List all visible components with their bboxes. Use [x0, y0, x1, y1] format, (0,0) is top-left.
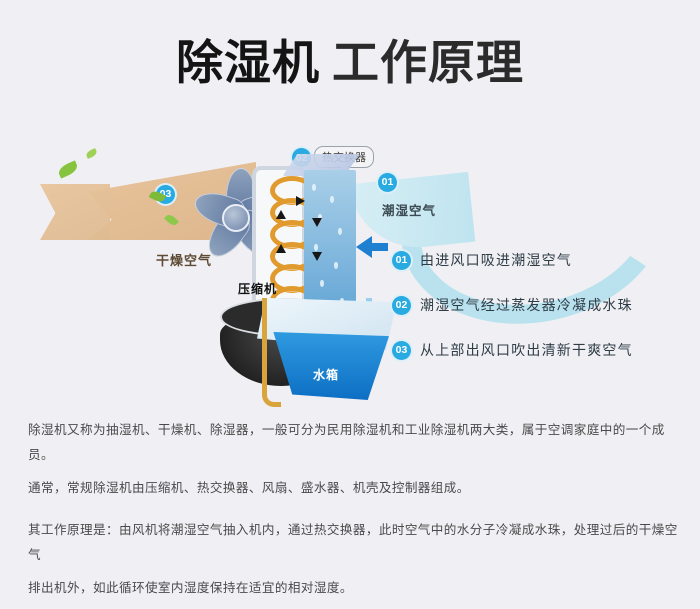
- flow-arrow-icon: [312, 218, 322, 227]
- machine-base: 水箱: [195, 288, 415, 400]
- legend-list: 01 由进风口吸进潮湿空气 02 潮湿空气经过蒸发器冷凝成水珠 03 从上部出风…: [392, 250, 692, 385]
- water-droplet-icon: [312, 184, 316, 191]
- paragraph-2-line-2: 排出机外，如此循环使室内湿度保持在适宜的相对湿度。: [28, 576, 678, 601]
- legend-label: 由进风口吸进潮湿空气: [420, 250, 572, 270]
- water-droplet-icon: [330, 196, 334, 203]
- legend-item: 03 从上部出风口吹出清新干爽空气: [392, 340, 692, 360]
- water-tank-label: 水箱: [313, 366, 339, 383]
- infographic-page: 除湿机工作原理 01 潮湿空气 干燥空气 03: [0, 0, 700, 566]
- water-droplet-icon: [338, 228, 342, 235]
- legend-badge: 01: [392, 251, 411, 270]
- body-copy: 除湿机又称为抽湿机、干燥机、除湿器，一般可分为民用除湿机和工业除湿机两大类，属于…: [28, 418, 678, 609]
- legend-label: 从上部出风口吹出清新干爽空气: [420, 340, 633, 360]
- legend-badge: 02: [392, 296, 411, 315]
- airflow-in-arrow-tail: [370, 243, 388, 251]
- fan-hub: [222, 204, 250, 232]
- title-part-2: 工作原理: [332, 36, 524, 89]
- water-droplet-icon: [320, 280, 324, 287]
- water-droplet-icon: [314, 244, 318, 251]
- paragraph-2-line-1: 其工作原理是：由风机将潮湿空气抽入机内，通过热交换器，此时空气中的水分子冷凝成水…: [28, 518, 678, 568]
- flow-arrow-icon: [276, 210, 286, 219]
- page-title: 除湿机工作原理: [0, 34, 700, 92]
- flow-arrow-icon: [312, 252, 322, 261]
- paragraph-1-line-2: 通常，常规除湿机由压缩机、热交换器、风扇、盛水器、机壳及控制器组成。: [28, 476, 678, 501]
- legend-badge: 03: [392, 341, 411, 360]
- legend-label: 潮湿空气经过蒸发器冷凝成水珠: [420, 295, 633, 315]
- refrigerant-pipe: [262, 298, 281, 407]
- title-part-1: 除湿机: [176, 36, 320, 89]
- flow-arrow-icon: [296, 196, 305, 206]
- flow-arrow-icon: [276, 244, 286, 253]
- compressor-label: 压缩机: [238, 280, 277, 297]
- dry-air-arrow-tail: [40, 184, 110, 240]
- paragraph-1-line-1: 除湿机又称为抽湿机、干燥机、除湿器，一般可分为民用除湿机和工业除湿机两大类，属于…: [28, 418, 678, 468]
- water-droplet-icon: [334, 262, 338, 269]
- humid-air-label: 潮湿空气: [382, 200, 436, 219]
- legend-item: 01 由进风口吸进潮湿空气: [392, 250, 692, 270]
- legend-item: 02 潮湿空气经过蒸发器冷凝成水珠: [392, 295, 692, 315]
- leaf-icon: [85, 148, 98, 159]
